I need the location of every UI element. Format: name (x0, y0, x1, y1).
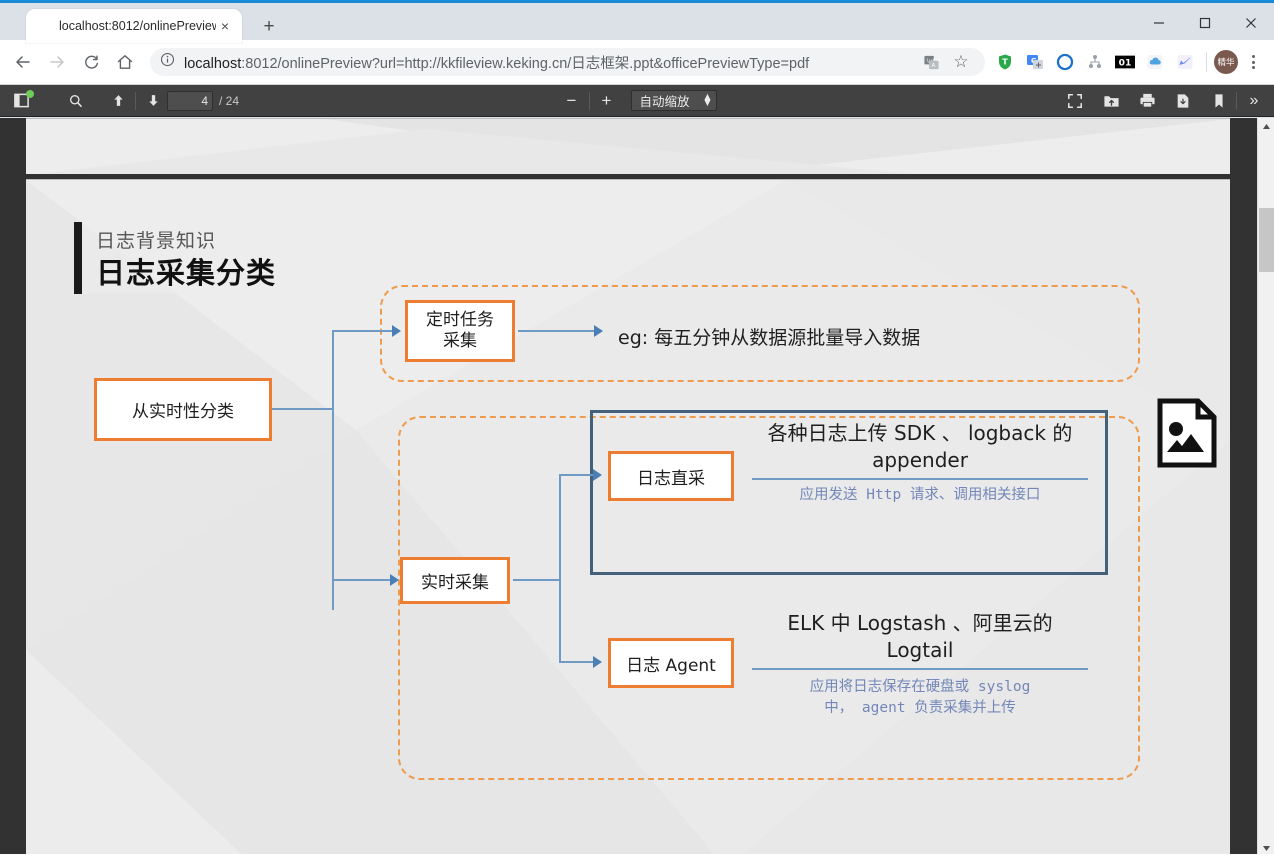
chevron-updown-icon: ▲▼ (704, 94, 710, 106)
avatar[interactable]: 精华 (1214, 50, 1238, 74)
zoom-in-button[interactable]: + (593, 88, 621, 114)
home-icon[interactable] (110, 47, 140, 77)
connector-root-horizontal (272, 408, 334, 410)
pdf-toolbar: 4 / 24 − + 自动缩放 ▲▼ (0, 85, 1274, 117)
direct-detail-main: 各种日志上传 SDK 、 logback 的 appender (752, 420, 1088, 474)
adblock-shield-icon[interactable]: T (991, 48, 1019, 76)
open-file-icon[interactable] (1097, 88, 1125, 114)
agent-sub-line-2: 中， agent 负责采集并上传 (752, 698, 1088, 719)
search-icon[interactable] (62, 88, 90, 114)
leaf-favicon (34, 17, 52, 35)
maximize-icon[interactable] (1182, 3, 1228, 43)
agent-detail-main: ELK 中 Logstash 、阿里云的 Logtail (752, 610, 1088, 664)
page-count-label: / 24 (219, 94, 239, 108)
pdf-toolbar-right: » (1061, 88, 1268, 114)
pdf-viewer[interactable]: 日志背景知识 日志采集分类 (0, 118, 1274, 857)
previous-page-icon[interactable] (104, 88, 132, 114)
next-page-icon[interactable] (139, 88, 167, 114)
agent-detail-sub: 应用将日志保存在硬盘或 syslog 中， agent 负责采集并上传 (752, 677, 1088, 719)
page-number-input[interactable]: 4 (167, 91, 213, 111)
agent-detail-block: ELK 中 Logstash 、阿里云的 Logtail 应用将日志保存在硬盘或… (752, 610, 1088, 719)
zoom-select[interactable]: 自动缩放 ▲▼ (631, 90, 717, 111)
arrow-to-direct (593, 469, 602, 481)
presentation-mode-icon[interactable] (1061, 88, 1089, 114)
svg-text:T: T (1002, 58, 1008, 67)
direct-main-line-1: 各种日志上传 SDK 、 logback 的 (752, 420, 1088, 447)
connector-to-realtime (332, 579, 392, 581)
cloud-icon[interactable] (1141, 48, 1169, 76)
address-bar[interactable]: localhost:8012/onlinePreview?url=http://… (150, 48, 985, 76)
connector-to-direct (559, 474, 595, 476)
tree-style-icon[interactable] (1081, 48, 1109, 76)
page-container: 日志背景知识 日志采集分类 (26, 118, 1230, 857)
detail-divider (752, 478, 1088, 480)
google-translate-icon[interactable]: G (1021, 48, 1049, 76)
pdf-page-previous (26, 118, 1230, 174)
arrow-timed-to-example (594, 325, 603, 337)
toolbar-divider (1236, 92, 1237, 110)
direct-main-line-2: appender (752, 447, 1088, 474)
chrome-menu-icon[interactable] (1240, 55, 1266, 69)
toolbar-divider (135, 92, 136, 110)
vertical-scrollbar[interactable] (1257, 118, 1274, 857)
bookmark-icon[interactable] (1205, 88, 1233, 114)
omnibox-actions: \u6587A ☆ (917, 48, 975, 76)
page-title: 日志采集分类 (96, 250, 276, 292)
pdf-toolbar-left: 4 / 24 (6, 88, 239, 114)
svg-text:01: 01 (1119, 59, 1132, 69)
more-tools-icon[interactable]: » (1240, 88, 1268, 114)
connector-realtime-branch (559, 474, 561, 663)
direct-detail-block: 各种日志上传 SDK 、 logback 的 appender 应用发送 Htt… (752, 420, 1088, 506)
tab-title: localhost:8012/onlinePreview? (59, 19, 216, 33)
box-log-agent: 日志 Agent (608, 638, 734, 688)
back-icon[interactable] (8, 47, 38, 77)
timed-example-text: eg: 每五分钟从数据源批量导入数据 (618, 323, 920, 350)
window-controls (1136, 3, 1274, 43)
zoom-select-value: 自动缩放 (640, 91, 690, 110)
scroll-up-icon[interactable] (1258, 118, 1274, 135)
broken-image-placeholder (1156, 398, 1218, 468)
timed-line-1: 定时任务 (426, 310, 494, 331)
close-window-icon[interactable] (1228, 3, 1274, 43)
opera-touch-icon[interactable] (1051, 48, 1079, 76)
pdf-page-current: 日志背景知识 日志采集分类 (26, 179, 1230, 857)
sidebar-status-dot (26, 90, 34, 98)
translate-icon[interactable]: \u6587A (917, 48, 945, 76)
site-info-icon[interactable] (160, 52, 178, 72)
browser-window: localhost:8012/onlinePreview? × + (0, 0, 1274, 857)
url-host: localhost (184, 56, 241, 72)
counter-01-icon[interactable]: 01 (1111, 48, 1139, 76)
arrow-to-timed (392, 325, 401, 337)
title-bar: localhost:8012/onlinePreview? × + (0, 0, 1274, 40)
direct-detail-sub: 应用发送 Http 请求、调用相关接口 (752, 485, 1088, 506)
connector-to-timed (332, 330, 392, 332)
navigation-bar: localhost:8012/onlinePreview?url=http://… (0, 40, 1274, 85)
title-accent-bar (74, 222, 82, 294)
detail-divider (752, 668, 1088, 670)
connector-trunk (332, 330, 334, 610)
bird-icon[interactable] (1171, 48, 1199, 76)
address-bar-text: localhost:8012/onlinePreview?url=http://… (184, 52, 917, 73)
bookmark-star-icon[interactable]: ☆ (947, 48, 975, 76)
print-icon[interactable] (1133, 88, 1161, 114)
new-tab-button[interactable]: + (256, 15, 282, 41)
extension-toolbar: T G 01 精华 (991, 48, 1266, 76)
box-timed-collection: 定时任务 采集 (405, 300, 515, 362)
toolbar-divider (1206, 52, 1207, 72)
agent-sub-line-1: 应用将日志保存在硬盘或 syslog (752, 677, 1088, 698)
reload-icon[interactable] (76, 47, 106, 77)
svg-text:A: A (931, 63, 935, 69)
slide-title-block: 日志背景知识 日志采集分类 (74, 222, 354, 294)
box-direct-logging: 日志直采 (608, 451, 734, 501)
forward-icon[interactable] (42, 47, 72, 77)
connector-timed-to-example (518, 330, 596, 332)
connector-realtime-out (513, 579, 561, 581)
minimize-icon[interactable] (1136, 3, 1182, 43)
zoom-out-button[interactable]: − (558, 88, 586, 114)
slide-eyebrow: 日志背景知识 (96, 226, 216, 253)
timed-line-2: 采集 (426, 331, 494, 352)
box-realtime-collection: 实时采集 (400, 557, 510, 604)
slide-background (26, 119, 1230, 174)
arrow-to-realtime (390, 574, 399, 586)
scroll-thumb[interactable] (1259, 208, 1274, 272)
browser-tab[interactable]: localhost:8012/onlinePreview? × (26, 9, 242, 43)
connector-to-agent (559, 661, 595, 663)
download-icon[interactable] (1169, 88, 1197, 114)
url-path: :8012/onlinePreview?url=http://kkfilevie… (241, 56, 809, 72)
toolbar-divider (589, 92, 590, 110)
arrow-to-agent (593, 656, 602, 668)
close-icon[interactable]: × (216, 17, 234, 35)
sidebar-toggle-icon[interactable] (6, 88, 36, 114)
box-classify-by-realtime: 从实时性分类 (94, 378, 272, 441)
